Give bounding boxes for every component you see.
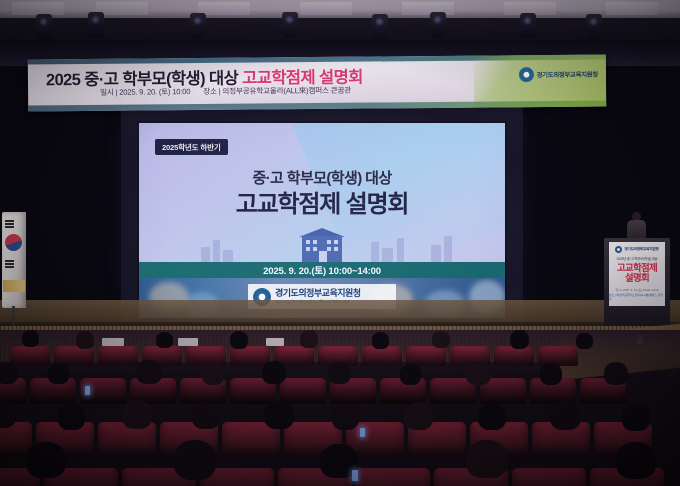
banner-logo: 경기도의정부교육지원청 [518, 67, 598, 83]
banner-bottom-stripe [28, 100, 606, 111]
slide-date-text: 2025. 9. 20.(토) 10:00~14:00 [263, 263, 381, 277]
taegeuk-icon [5, 234, 22, 251]
podium-sign-date: 일시 | 2025. 9. 20.(토) 10:00~14:00 [615, 288, 658, 292]
stage-spotlight-icon [88, 12, 104, 38]
podium-sign-subtitle: 2025년 중·고 학부모(학생) 대상 [617, 256, 658, 261]
podium-sign-title-2: 설명회 [625, 273, 649, 284]
slide-skyline-illustration [139, 224, 505, 262]
stage-spotlight-icon [430, 12, 446, 38]
office-emblem-icon [518, 67, 533, 82]
podium-sign-org: 경기도의정부교육지원청 [624, 247, 658, 252]
podium-sign: 경기도의정부교육지원청 2025년 중·고 학부모(학생) 대상 고교학점제 설… [609, 242, 665, 306]
stage-spotlight-icon [282, 12, 298, 38]
auditorium-photo: 2025 중·고 학부모(학생) 대상 고교학점제 설명회 일시 | 2025.… [0, 0, 680, 486]
slide-content: 2025학년도 하반기 중·고 학부모(학생) 대상 고교학점제 설명회 [139, 123, 505, 318]
event-banner: 2025 중·고 학부모(학생) 대상 고교학점제 설명회 일시 | 2025.… [28, 54, 606, 111]
korean-flag-icon [2, 212, 28, 330]
slide-org-ko: 경기도의정부교육지원청 [275, 289, 361, 298]
banner-date: 일시 | 2025. 9. 20. (토) 10:00 [100, 87, 190, 97]
podium: 경기도의정부교육지원청 2025년 중·고 학부모(학생) 대상 고교학점제 설… [604, 238, 670, 326]
banner-subtitle: 일시 | 2025. 9. 20. (토) 10:00장소 | 의정부공유학교올… [100, 85, 351, 98]
stage-spotlight-icon [586, 14, 602, 40]
podium-sign-place: 장소 | 의정부공유학교올라(ALL來)캠퍼스 큰꿈관 [609, 293, 665, 301]
stage-spotlight-icon [190, 13, 206, 39]
audience-seating [0, 330, 680, 486]
stage-spotlight-icon [36, 14, 52, 40]
banner-logo-text: 경기도의정부교육지원청 [537, 70, 598, 80]
presenter [626, 212, 646, 240]
slide-badge: 2025학년도 하반기 [155, 139, 228, 155]
slide-headline-large: 고교학점제 설명회 [139, 184, 505, 219]
projection-screen: 2025학년도 하반기 중·고 학부모(학생) 대상 고교학점제 설명회 [137, 121, 507, 320]
school-building-icon [299, 228, 345, 262]
stage-spotlight-icon [520, 13, 536, 39]
banner-place: 장소 | 의정부공유학교올라(ALL來)캠퍼스 큰꿈관 [203, 86, 351, 96]
slide-date-bar: 2025. 9. 20.(토) 10:00~14:00 [139, 262, 505, 278]
stage-spotlight-icon [372, 14, 388, 40]
office-emblem-icon [615, 246, 622, 253]
